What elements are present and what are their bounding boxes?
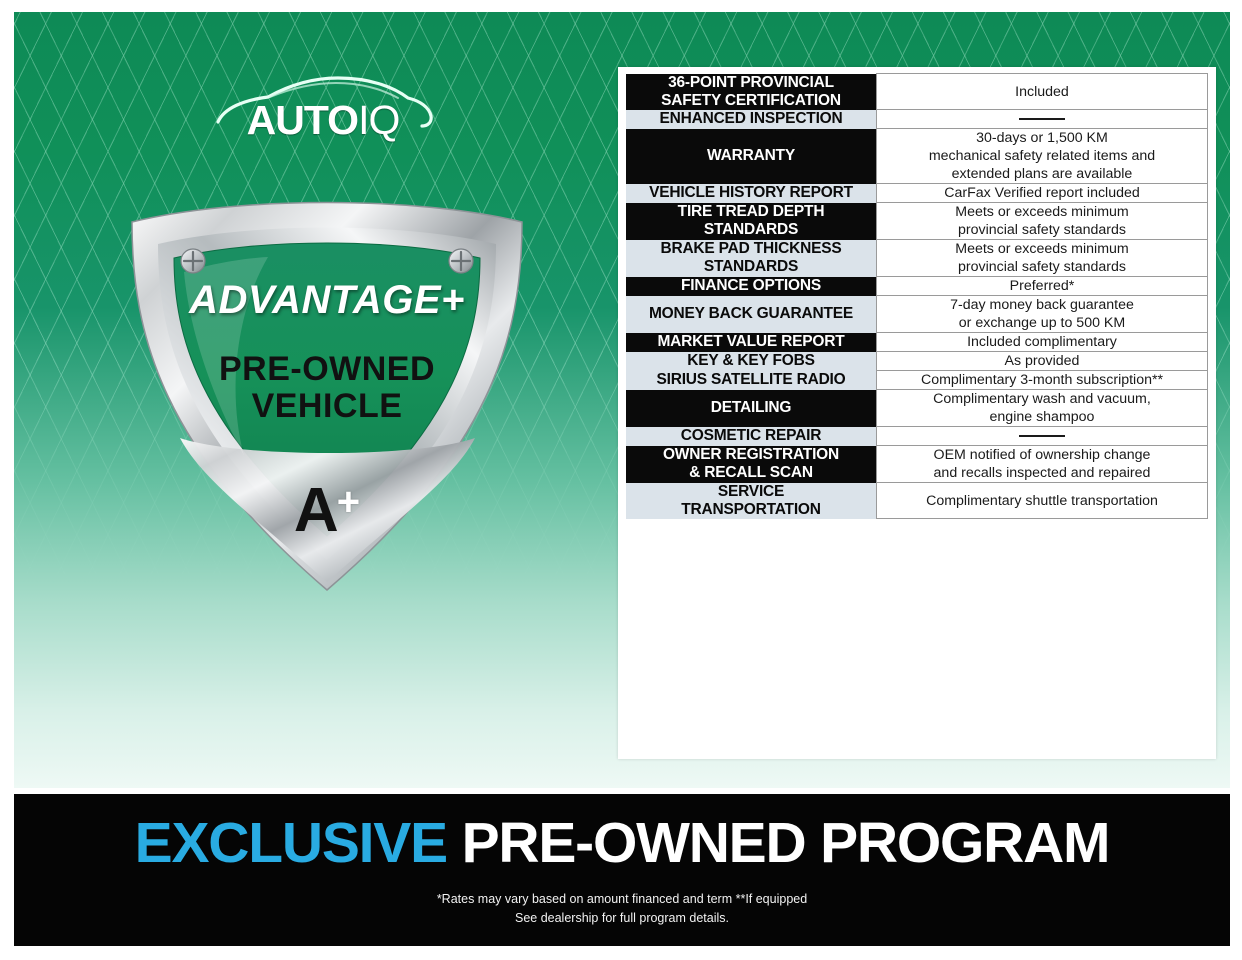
feature-value-cell: Complimentary shuttle transportation <box>877 483 1208 519</box>
features-table-body: 36-POINT PROVINCIALSAFETY CERTIFICATIONI… <box>626 74 1208 519</box>
feature-value-cell <box>877 110 1208 129</box>
feature-value-cell <box>877 427 1208 446</box>
dash-marker <box>1019 118 1065 120</box>
feature-label-cell: KEY & KEY FOBS <box>626 352 877 371</box>
feature-value-cell: Complimentary 3-month subscription** <box>877 371 1208 390</box>
table-row: SERVICETRANSPORTATIONComplimentary shutt… <box>626 483 1208 519</box>
feature-label-cell: WARRANTY <box>626 129 877 184</box>
autoiq-word-iq: IQ <box>358 97 399 143</box>
advantage-plus-poster: AUTOIQ <box>0 0 1242 960</box>
feature-label-cell: TIRE TREAD DEPTHSTANDARDS <box>626 203 877 240</box>
feature-label-cell: ENHANCED INSPECTION <box>626 110 877 129</box>
table-row: VEHICLE HISTORY REPORTCarFax Verified re… <box>626 184 1208 203</box>
green-background-panel: AUTOIQ <box>14 12 1230 788</box>
screw-right-icon <box>449 249 473 273</box>
feature-value-cell: Meets or exceeds minimumprovincial safet… <box>877 203 1208 240</box>
table-row: SIRIUS SATELLITE RADIOComplimentary 3-mo… <box>626 371 1208 390</box>
feature-value-cell: 30-days or 1,500 KMmechanical safety rel… <box>877 129 1208 184</box>
shield-graphic <box>118 188 536 598</box>
feature-value-cell: As provided <box>877 352 1208 371</box>
feature-label-cell: MARKET VALUE REPORT <box>626 333 877 352</box>
banner-footnote-line2: See dealership for full program details. <box>515 911 729 925</box>
advantage-plus-shield-badge: ADVANTAGE+ PRE-OWNEDVEHICLE A+ <box>118 188 536 598</box>
table-row: BRAKE PAD THICKNESSSTANDARDSMeets or exc… <box>626 240 1208 277</box>
table-row: WARRANTY30-days or 1,500 KMmechanical sa… <box>626 129 1208 184</box>
features-table: 36-POINT PROVINCIALSAFETY CERTIFICATIONI… <box>626 73 1208 519</box>
feature-label-cell: 36-POINT PROVINCIALSAFETY CERTIFICATION <box>626 74 877 110</box>
feature-label-cell: BRAKE PAD THICKNESSSTANDARDS <box>626 240 877 277</box>
autoiq-logo: AUTOIQ <box>210 64 436 158</box>
feature-value-cell: Preferred* <box>877 277 1208 296</box>
table-row: 36-POINT PROVINCIALSAFETY CERTIFICATIONI… <box>626 74 1208 110</box>
feature-value-cell: Included <box>877 74 1208 110</box>
feature-value-cell: Complimentary wash and vacuum,engine sha… <box>877 390 1208 427</box>
feature-label-cell: OWNER REGISTRATION& RECALL SCAN <box>626 446 877 483</box>
feature-value-cell: CarFax Verified report included <box>877 184 1208 203</box>
table-row: OWNER REGISTRATION& RECALL SCANOEM notif… <box>626 446 1208 483</box>
banner-title-rest: PRE-OWNED PROGRAM <box>462 811 1110 875</box>
table-row: MARKET VALUE REPORTIncluded complimentar… <box>626 333 1208 352</box>
table-row: ENHANCED INSPECTION <box>626 110 1208 129</box>
table-row: DETAILINGComplimentary wash and vacuum,e… <box>626 390 1208 427</box>
banner-title: EXCLUSIVE PRE-OWNED PROGRAM <box>14 812 1230 874</box>
table-row: TIRE TREAD DEPTHSTANDARDSMeets or exceed… <box>626 203 1208 240</box>
screw-left-icon <box>181 249 205 273</box>
dash-marker <box>1019 435 1065 437</box>
feature-value-cell: OEM notified of ownership changeand reca… <box>877 446 1208 483</box>
feature-value-cell: Included complimentary <box>877 333 1208 352</box>
table-row: MONEY BACK GUARANTEE7-day money back gua… <box>626 296 1208 333</box>
feature-label-cell: SERVICETRANSPORTATION <box>626 483 877 519</box>
feature-label-cell: VEHICLE HISTORY REPORT <box>626 184 877 203</box>
feature-value-cell: 7-day money back guaranteeor exchange up… <box>877 296 1208 333</box>
banner-footnote: *Rates may vary based on amount financed… <box>14 890 1230 928</box>
autoiq-word-auto: AUTO <box>247 97 358 143</box>
features-table-card: 36-POINT PROVINCIALSAFETY CERTIFICATIONI… <box>618 67 1216 759</box>
feature-label-cell: FINANCE OPTIONS <box>626 277 877 296</box>
feature-value-cell: Meets or exceeds minimumprovincial safet… <box>877 240 1208 277</box>
banner-footnote-line1: *Rates may vary based on amount financed… <box>437 892 807 906</box>
table-row: COSMETIC REPAIR <box>626 427 1208 446</box>
feature-label-cell: MONEY BACK GUARANTEE <box>626 296 877 333</box>
table-row: KEY & KEY FOBSAs provided <box>626 352 1208 371</box>
banner-title-highlight: EXCLUSIVE <box>135 811 447 875</box>
feature-label-cell: DETAILING <box>626 390 877 427</box>
feature-label-cell: SIRIUS SATELLITE RADIO <box>626 371 877 390</box>
autoiq-wordmark: AUTOIQ <box>210 100 436 141</box>
table-row: FINANCE OPTIONSPreferred* <box>626 277 1208 296</box>
bottom-banner: EXCLUSIVE PRE-OWNED PROGRAM *Rates may v… <box>14 794 1230 946</box>
feature-label-cell: COSMETIC REPAIR <box>626 427 877 446</box>
